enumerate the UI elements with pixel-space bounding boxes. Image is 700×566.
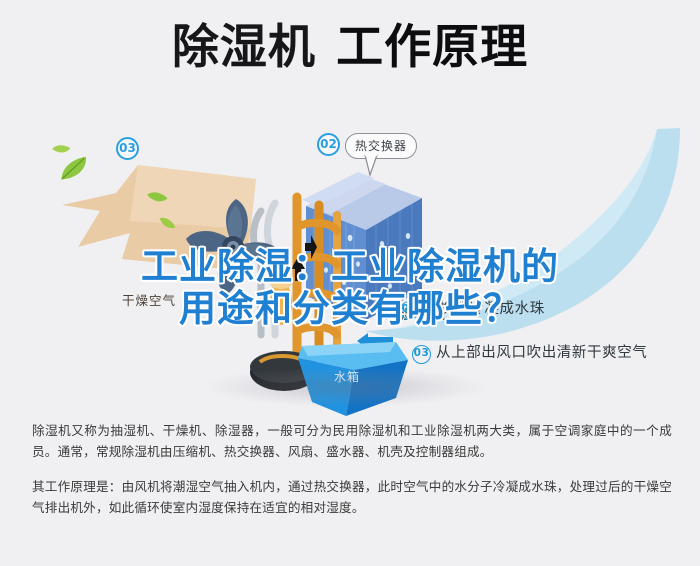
- article-paragraph-1: 除湿机又称为抽湿机、干燥机、除湿器，一般可分为民用除湿机和工业除湿机两大类，属于…: [32, 420, 672, 462]
- step-note-02-text: 交换器冷凝成水珠: [424, 301, 545, 317]
- article-body: 除湿机又称为抽湿机、干燥机、除湿器，一般可分为民用除湿机和工业除湿机两大类，属于…: [32, 420, 672, 518]
- step-note-03-text: 从上部出风口吹出清新干爽空气: [436, 345, 647, 361]
- badge-heat-exchanger: 02: [317, 133, 340, 156]
- machine-shadow: [205, 367, 485, 407]
- page-title: 除湿机 工作原理: [0, 24, 700, 71]
- dehumidifier-diagram: 干燥空气 潮湿空气 03 02 01 热交换器: [0, 115, 700, 405]
- badge-dry-air: 03: [116, 137, 139, 160]
- article-paragraph-2: 其工作原理是：由风机将潮湿空气抽入机内，通过热交换器，此时空气中的水分子冷凝成水…: [32, 476, 672, 518]
- step-note-03: 03从上部出风口吹出清新干爽空气: [412, 341, 647, 364]
- page-title-highlight: 除湿机: [172, 24, 316, 71]
- step-note-02: 02交换器冷凝成水珠: [400, 297, 545, 320]
- fan-graphic: [178, 195, 288, 300]
- dry-air-label: 干燥空气: [122, 290, 176, 309]
- step-note-03-number: 03: [412, 345, 431, 364]
- heat-exchanger-callout: 热交换器: [345, 133, 417, 159]
- leaf-icon: [50, 140, 71, 157]
- page-title-main: 工作原理: [336, 24, 528, 71]
- step-note-02-number: 02: [400, 301, 419, 320]
